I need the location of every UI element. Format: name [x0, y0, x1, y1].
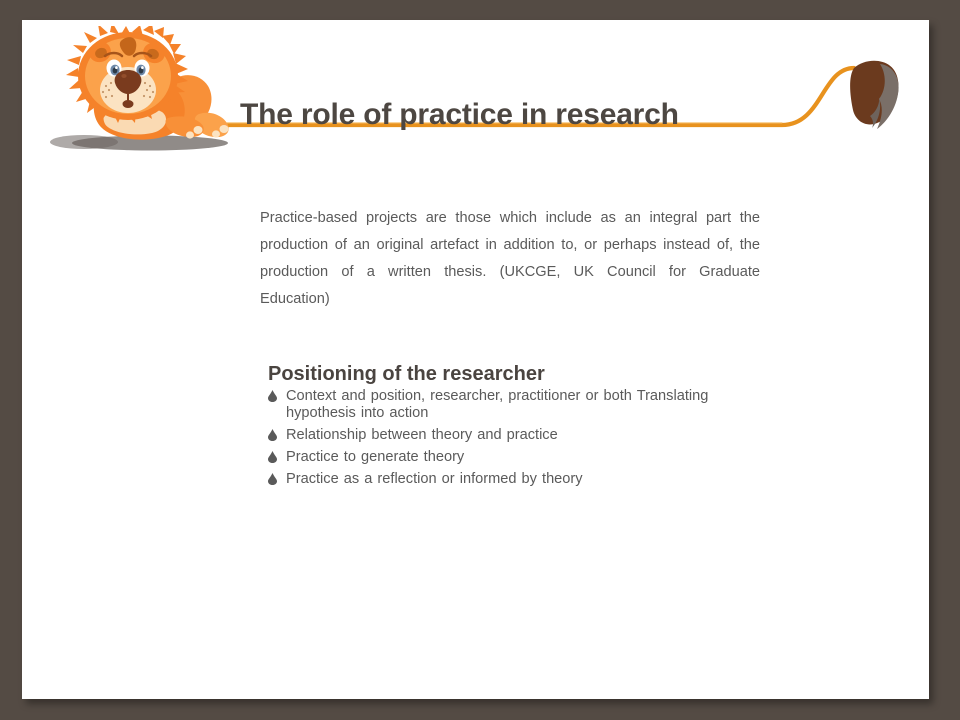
droplet-bullet-icon	[268, 473, 277, 485]
list-item-label: Practice to generate theory	[286, 449, 464, 465]
slide-surface: The role of practice in research Practic…	[22, 20, 929, 699]
list-item: Practice to generate theory	[264, 449, 764, 466]
droplet-bullet-icon	[268, 451, 277, 463]
bullet-list: Context and position, researcher, practi…	[264, 388, 764, 493]
section-heading: Positioning of the researcher	[268, 363, 545, 386]
droplet-bullet-icon	[268, 390, 277, 402]
slide-header: The role of practice in research	[22, 20, 929, 140]
list-item: Practice as a reflection or informed by …	[264, 471, 764, 488]
slide-backdrop: The role of practice in research Practic…	[0, 0, 960, 720]
list-item: Relationship between theory and practice	[264, 427, 764, 444]
list-item-label: Practice as a reflection or informed by …	[286, 471, 583, 487]
lion-mascot-icon	[48, 26, 248, 154]
list-item: Context and position, researcher, practi…	[264, 388, 764, 422]
tail-tuft-icon	[850, 61, 898, 129]
intro-paragraph: Practice-based projects are those which …	[260, 205, 760, 313]
list-item-label: Context and position, researcher, practi…	[286, 388, 708, 421]
droplet-bullet-icon	[268, 429, 277, 441]
list-item-label: Relationship between theory and practice	[286, 427, 558, 443]
page-title: The role of practice in research	[240, 100, 679, 130]
